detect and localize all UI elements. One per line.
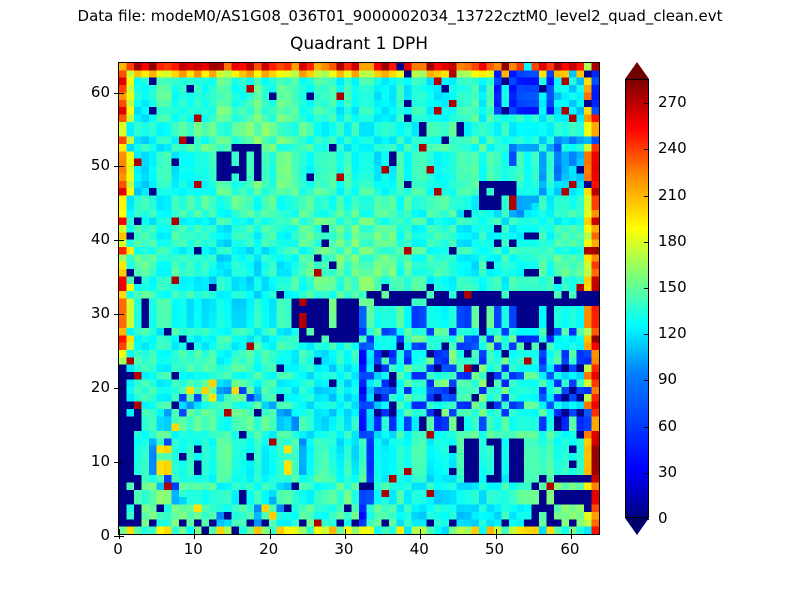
figure-canvas: Data file: modeM0/AS1G08_036T01_90000020…	[0, 0, 800, 600]
axes-title: Quadrant 1 DPH	[118, 33, 600, 55]
x-tick-label: 50	[465, 541, 525, 558]
colorbar-tick-mark	[644, 242, 649, 243]
colorbar-tick-mark	[644, 427, 649, 428]
x-tick-mark	[420, 534, 421, 539]
x-tick-mark-inner	[420, 529, 421, 534]
x-tick-mark	[496, 534, 497, 539]
x-tick-mark	[345, 534, 346, 539]
y-tick-label: 30	[58, 305, 110, 322]
colorbar-tick-mark	[644, 103, 649, 104]
x-tick-label: 60	[540, 541, 600, 558]
x-tick-mark	[571, 534, 572, 539]
colorbar-tick-mark	[644, 334, 649, 335]
y-tick-mark-inner	[119, 240, 124, 241]
colorbar-tick-mark	[644, 473, 649, 474]
y-tick-mark-inner	[119, 462, 124, 463]
y-tick-label: 50	[58, 157, 110, 174]
colorbar-gradient	[625, 79, 649, 518]
colorbar-tick-label: 120	[658, 325, 687, 342]
x-tick-mark-inner	[119, 529, 120, 534]
x-tick-mark-inner	[194, 529, 195, 534]
x-tick-mark	[270, 534, 271, 539]
colorbar-tick-label: 270	[658, 94, 687, 111]
y-tick-label: 0	[58, 527, 110, 544]
colorbar-tick-mark	[644, 149, 649, 150]
x-tick-mark-inner	[345, 529, 346, 534]
y-tick-label: 60	[58, 84, 110, 101]
x-tick-label: 40	[389, 541, 449, 558]
dph-heatmap-image	[119, 63, 599, 534]
colorbar-under-arrow-icon	[625, 518, 649, 535]
colorbar-over-arrow-icon	[625, 62, 649, 79]
colorbar-tick-label: 60	[658, 418, 677, 435]
y-tick-mark-inner	[119, 314, 124, 315]
x-tick-mark-inner	[270, 529, 271, 534]
x-tick-label: 30	[314, 541, 374, 558]
colorbar-tick-mark	[644, 288, 649, 289]
x-tick-mark	[194, 534, 195, 539]
y-tick-label: 40	[58, 231, 110, 248]
y-tick-label: 10	[58, 453, 110, 470]
colorbar-tick-label: 210	[658, 187, 687, 204]
colorbar[interactable]	[625, 62, 649, 535]
colorbar-tick-mark	[644, 380, 649, 381]
y-tick-mark-inner	[119, 536, 124, 537]
data-file-suptitle: Data file: modeM0/AS1G08_036T01_90000020…	[0, 6, 800, 26]
x-tick-label: 10	[163, 541, 223, 558]
y-tick-mark-inner	[119, 166, 124, 167]
colorbar-tick-label: 150	[658, 279, 687, 296]
y-tick-mark-inner	[119, 388, 124, 389]
x-tick-mark-inner	[571, 529, 572, 534]
x-tick-mark-inner	[496, 529, 497, 534]
colorbar-tick-label: 240	[658, 140, 687, 157]
colorbar-tick-label: 90	[658, 371, 677, 388]
colorbar-tick-label: 0	[658, 510, 668, 527]
colorbar-tick-mark	[644, 196, 649, 197]
y-tick-label: 20	[58, 379, 110, 396]
x-tick-label: 20	[239, 541, 299, 558]
y-tick-mark-inner	[119, 93, 124, 94]
dph-heatmap-axes[interactable]	[118, 62, 600, 535]
colorbar-tick-label: 180	[658, 233, 687, 250]
colorbar-tick-label: 30	[658, 464, 677, 481]
